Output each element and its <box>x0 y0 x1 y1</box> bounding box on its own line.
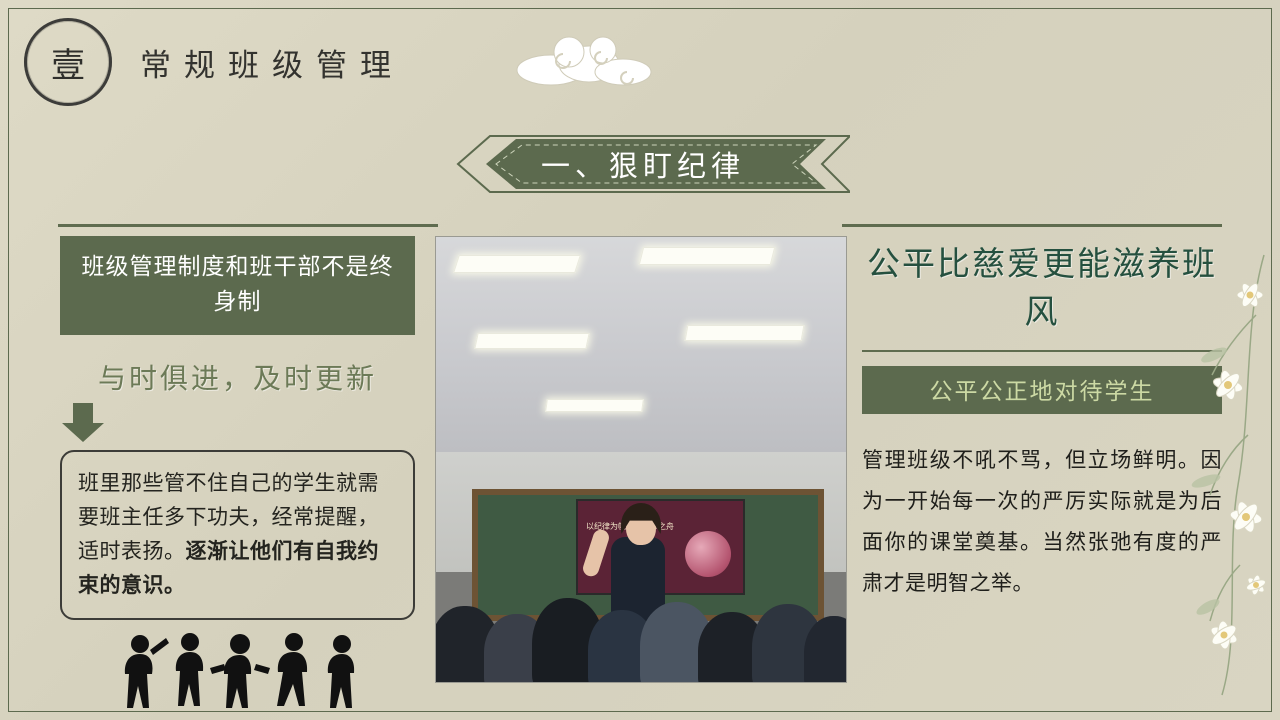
ceiling-lamp <box>545 399 644 412</box>
classroom-photo: 以纪律为帆，驭自律之舟 <box>435 236 847 683</box>
ceiling-lamp <box>639 247 775 265</box>
section-banner: 一、狠盯纪律 <box>430 133 850 195</box>
slide: 壹 常规班级管理 一、狠盯纪律 班级管理 <box>0 0 1280 720</box>
right-body-text: 管理班级不吼不骂，但立场鲜明。因为一开始每一次的严厉实际就是为后面你的课堂奠基。… <box>862 440 1222 604</box>
left-column: 班级管理制度和班干部不是终身制 与时俱进，及时更新 班里那些管不住自己的学生就需… <box>60 236 415 719</box>
divider-left <box>58 224 438 227</box>
ceiling-lamp <box>453 255 581 273</box>
cloud-ornament-icon <box>505 30 665 90</box>
section-banner-wrap: 一、狠盯纪律 <box>0 133 1280 195</box>
section-banner-text: 一、狠盯纪律 <box>430 133 850 195</box>
divider-right <box>842 224 1222 227</box>
ceiling-lamp <box>685 325 805 341</box>
left-headline-box: 班级管理制度和班干部不是终身制 <box>60 236 415 335</box>
left-note-box: 班里那些管不住自己的学生就需要班主任多下功夫，经常提醒，适时表扬。逐渐让他们有自… <box>60 450 415 620</box>
right-divider <box>862 350 1222 352</box>
ceiling-lamp <box>474 333 589 349</box>
right-column: 公平比慈爱更能滋养班风 公平公正地对待学生 管理班级不吼不骂，但立场鲜明。因为一… <box>862 240 1222 603</box>
children-silhouette-icon <box>112 628 362 714</box>
slide-header: 壹 常规班级管理 <box>24 18 404 106</box>
right-subtitle: 公平公正地对待学生 <box>862 366 1222 414</box>
students-group <box>436 547 846 682</box>
right-title: 公平比慈爱更能滋养班风 <box>862 240 1222 336</box>
arrow-down-icon <box>60 403 106 443</box>
header-title: 常规班级管理 <box>140 40 404 85</box>
left-subtitle: 与时俱进，及时更新 <box>60 357 415 397</box>
chapter-seal-char: 壹 <box>51 38 85 87</box>
chapter-seal: 壹 <box>24 18 112 106</box>
